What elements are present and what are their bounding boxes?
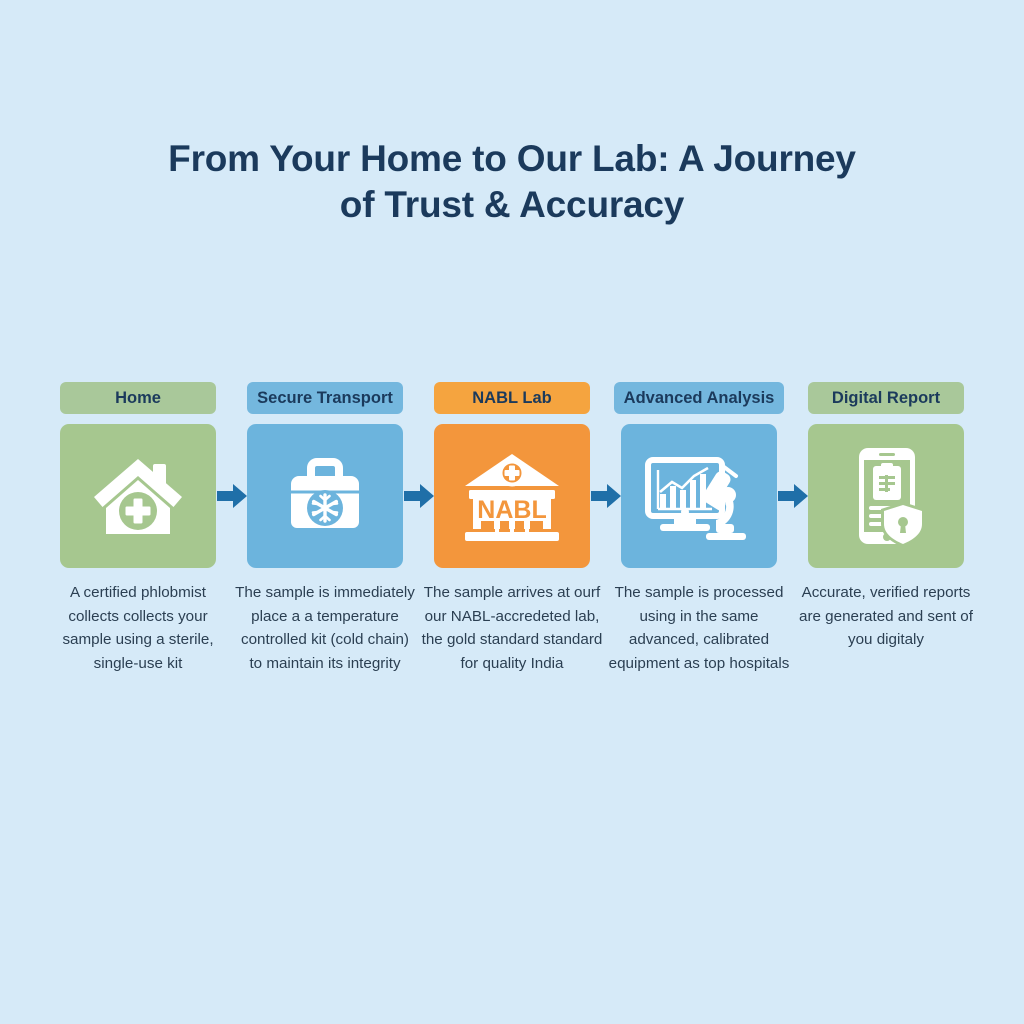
step-description-advanced-analysis: The sample is processed using in the sam… (608, 581, 790, 675)
flow-step-advanced-analysis: Advanced Analysis (621, 382, 777, 675)
nabl-lab-building-icon: NABL (459, 448, 565, 544)
step-panel-home (60, 424, 216, 568)
nabl-icon-label: NABL (477, 496, 546, 524)
flow-arrow-2 (403, 424, 434, 568)
step-header-secure-transport: Secure Transport (247, 382, 403, 414)
step-description-secure-transport: The sample is immediately place a a temp… (234, 581, 416, 675)
arrow-right-icon (778, 483, 808, 509)
step-panel-digital-report (808, 424, 964, 568)
page-title-line-1: From Your Home to Our Lab: A Journey (0, 136, 1024, 182)
page-title-line-2: of Trust & Accuracy (0, 182, 1024, 228)
page-title: From Your Home to Our Lab: A Journey of … (0, 136, 1024, 228)
arrow-right-icon (217, 483, 247, 509)
step-header-home: Home (60, 382, 216, 414)
step-header-advanced-analysis: Advanced Analysis (614, 382, 785, 414)
step-description-home: A certified phlobmist collects collects … (47, 581, 229, 675)
flow-step-digital-report: Digital Report (808, 382, 964, 652)
smartphone-report-shield-icon (843, 444, 929, 548)
monitor-chart-microscope-icon (644, 450, 754, 542)
step-header-digital-report: Digital Report (808, 382, 964, 414)
home-medical-cross-icon (90, 450, 186, 542)
step-panel-secure-transport (247, 424, 403, 568)
process-flow-diagram: Home A certified phlobmist collect (60, 382, 964, 675)
step-description-digital-report: Accurate, verified reports are generated… (795, 581, 977, 652)
cooler-box-snowflake-icon (277, 454, 373, 538)
flow-arrow-4 (777, 424, 808, 568)
flow-arrow-1 (216, 424, 247, 568)
step-description-nabl-lab: The sample arrives at ourf our NABL-accr… (421, 581, 603, 675)
step-header-nabl-lab: NABL Lab (434, 382, 590, 414)
flow-step-secure-transport: Secure Transport (247, 382, 403, 675)
flow-step-home: Home A certified phlobmist collect (60, 382, 216, 675)
arrow-right-icon (404, 483, 434, 509)
flow-arrow-3 (590, 424, 621, 568)
step-panel-nabl-lab: NABL (434, 424, 590, 568)
arrow-right-icon (591, 483, 621, 509)
flow-step-nabl-lab: NABL Lab NABL (434, 382, 590, 675)
step-panel-advanced-analysis (621, 424, 777, 568)
